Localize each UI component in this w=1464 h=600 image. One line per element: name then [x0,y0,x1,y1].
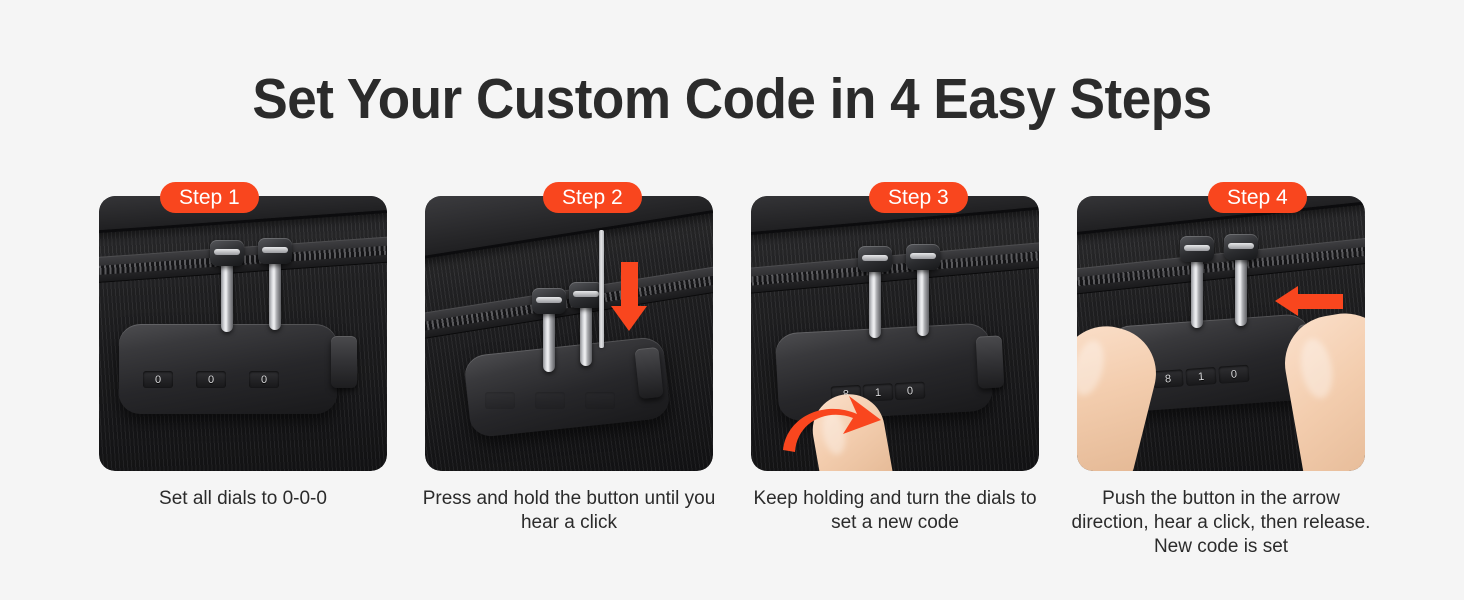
steps-row: Step 1 0 0 0 [88,182,1376,562]
step-card-2: Step 2 [414,182,724,535]
dial-3[interactable] [585,392,615,409]
zipper-pull-right [1235,252,1247,326]
zipper-pull-left [1191,254,1203,328]
step-caption-3: Keep holding and turn the dials to set a… [745,487,1045,535]
page-title: Set Your Custom Code in 4 Easy Steps [51,66,1413,132]
zipper-pull-left [869,264,881,338]
zipper-pull-left [221,258,233,332]
step-image-2 [425,196,713,471]
dial-1[interactable]: 0 [143,371,173,388]
step-image-3: 8 1 0 [751,196,1039,471]
zipper-pull-left [543,306,555,372]
reset-pin-tool [599,230,604,348]
step-caption-4: Push the button in the arrow direction, … [1071,487,1371,559]
step-badge-4: Step 4 [1208,182,1307,213]
dial-2[interactable]: 0 [196,371,226,388]
step-caption-1: Set all dials to 0-0-0 [93,487,393,511]
step-card-4: Step 4 8 1 0 [1066,182,1376,559]
step-badge-2: Step 2 [543,182,642,213]
rotate-arrow-icon [777,386,887,471]
step-image-4: 8 1 0 [1077,196,1365,471]
dial-2[interactable]: 1 [1185,367,1216,386]
dial-3[interactable]: 0 [895,382,926,401]
instruction-graphic: Set Your Custom Code in 4 Easy Steps Ste… [0,0,1464,600]
step-card-1: Step 1 0 0 0 [88,182,398,511]
dial-3[interactable]: 0 [1218,365,1249,384]
dial-1[interactable]: 8 [1153,369,1184,388]
zipper-pull-right [269,256,281,330]
step-badge-3: Step 3 [869,182,968,213]
step-card-3: Step 3 8 1 0 [740,182,1050,535]
dial-row-2 [485,392,615,409]
dial-row-1: 0 0 0 [143,371,279,388]
dial-2[interactable] [535,392,565,409]
step-caption-2: Press and hold the button until you hear… [419,487,719,535]
zipper-pull-right [917,262,929,336]
step-image-1: 0 0 0 [99,196,387,471]
dial-3[interactable]: 0 [249,371,279,388]
step-badge-1: Step 1 [160,182,259,213]
dial-1[interactable] [485,392,515,409]
zipper-pull-right [580,300,592,366]
